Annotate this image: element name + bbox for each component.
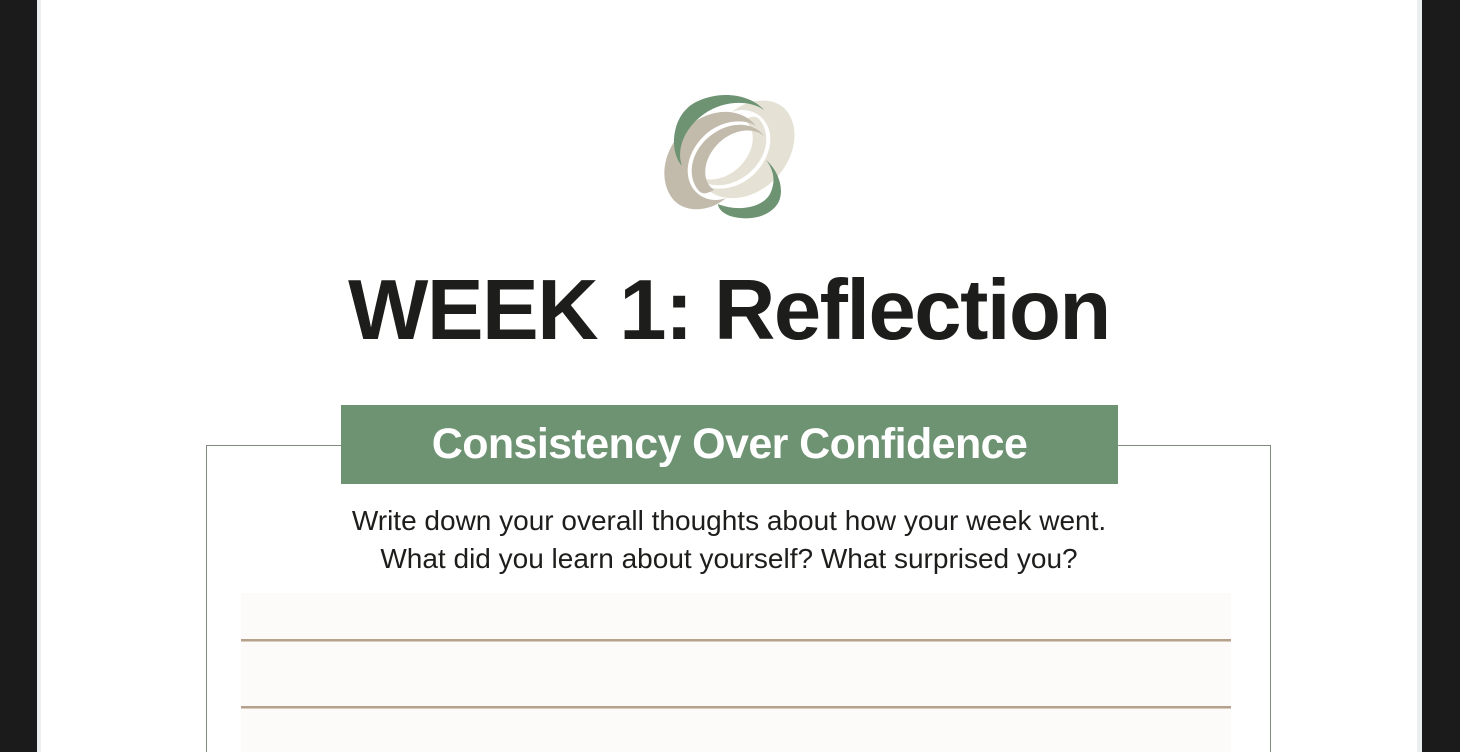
writing-line: [241, 639, 1231, 641]
browser-viewport: WEEK 1: Reflection Consistency Over Conf…: [0, 0, 1460, 752]
document-page: WEEK 1: Reflection Consistency Over Conf…: [41, 0, 1417, 752]
logo: [41, 88, 1417, 220]
scrollbar-track[interactable]: [1432, 0, 1454, 752]
page-edge-right: [1417, 0, 1422, 752]
banner-label: Consistency Over Confidence: [432, 420, 1028, 469]
prompt-line-2: What did you learn about yourself? What …: [41, 540, 1417, 578]
swirl-logo-icon: [654, 88, 804, 220]
prompt-text: Write down your overall thoughts about h…: [41, 502, 1417, 578]
left-gutter: [0, 0, 37, 752]
prompt-line-1: Write down your overall thoughts about h…: [41, 502, 1417, 540]
writing-line: [241, 706, 1231, 708]
section-banner: Consistency Over Confidence: [341, 405, 1118, 484]
writing-lines-panel[interactable]: [241, 593, 1231, 752]
page-title: WEEK 1: Reflection: [41, 268, 1417, 355]
